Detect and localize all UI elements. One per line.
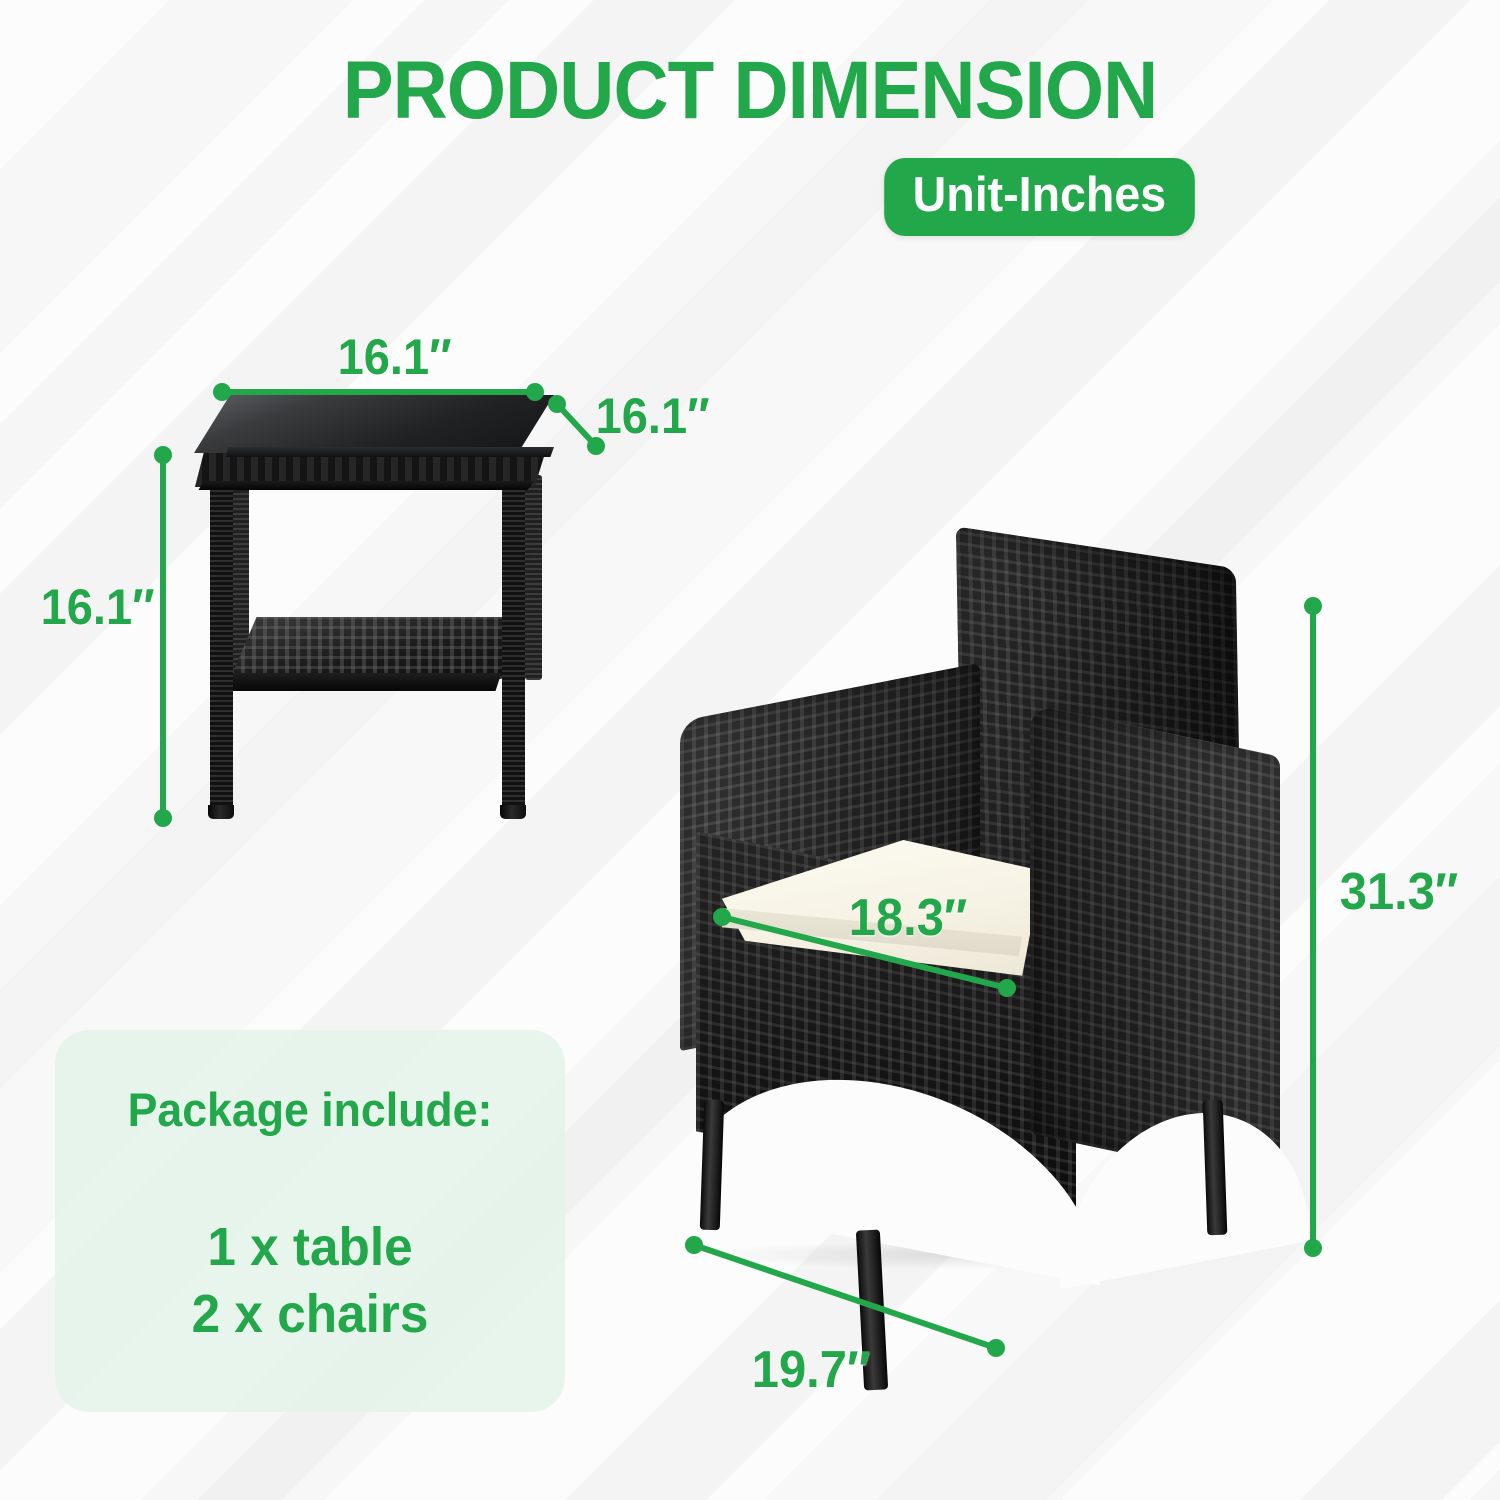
package-item-table: 1 x table <box>68 1216 553 1278</box>
table-foot-front-right <box>500 805 526 819</box>
side-table-illustration <box>180 395 600 820</box>
dimension-label-table-width: 16.1″ <box>338 328 452 386</box>
dimension-label-chair-height: 31.3″ <box>1340 862 1459 922</box>
table-glass-top <box>194 395 554 453</box>
table-apron-shadow <box>195 481 545 490</box>
dimension-label-table-depth: 16.1″ <box>596 387 710 445</box>
table-glass-edge <box>194 447 554 457</box>
package-include-title: Package include: <box>68 1082 553 1137</box>
armchair-illustration <box>660 540 1320 1300</box>
table-leg-back-right <box>525 475 542 680</box>
dimension-label-chair-seat-width: 18.3″ <box>849 888 968 948</box>
package-item-chairs: 2 x chairs <box>68 1283 553 1345</box>
table-leg-front-left <box>210 487 233 812</box>
dimension-label-chair-depth: 19.7″ <box>752 1340 871 1400</box>
infographic-canvas: PRODUCT DIMENSION Unit-Inches <box>0 0 1500 1500</box>
table-foot-front-left <box>208 805 234 819</box>
table-leg-front-right <box>502 487 525 812</box>
unit-badge: Unit-Inches <box>884 158 1194 236</box>
package-include-box: Package include: 1 x table 2 x chairs <box>55 1030 565 1412</box>
table-lower-shelf <box>230 617 525 679</box>
chair-armrest-right <box>1030 703 1280 1186</box>
table-shelf-front-edge <box>230 673 525 691</box>
page-title: PRODUCT DIMENSION <box>53 44 1448 138</box>
dimension-label-table-height: 16.1″ <box>41 578 155 636</box>
dimension-line-table-height <box>154 446 172 827</box>
